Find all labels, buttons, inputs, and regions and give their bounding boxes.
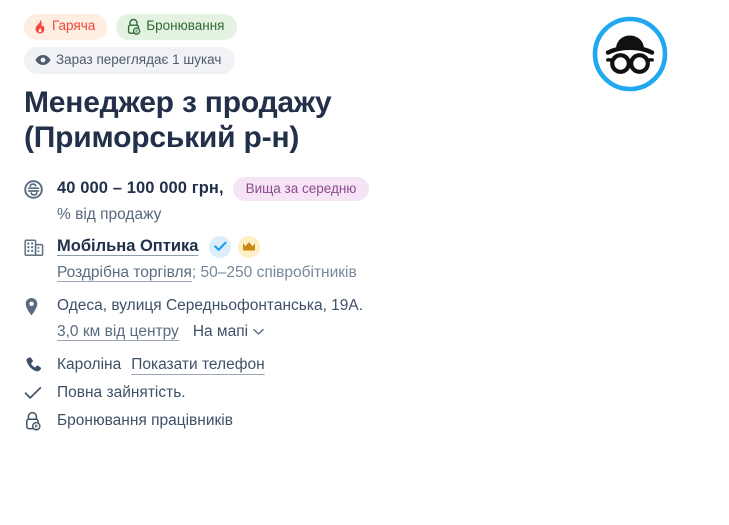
page-title: Менеджер з продажу (Приморський р-н)	[24, 86, 494, 156]
hryvnia-coin-icon	[24, 176, 50, 202]
reservation-row: ₴ Бронювання працівників	[24, 408, 709, 434]
reservation-body: Бронювання працівників	[57, 408, 709, 434]
show-phone-button[interactable]: Показати телефон	[131, 356, 264, 374]
company-industry-line: Роздрібна торгівля ; 50–250 співробітник…	[57, 260, 709, 286]
badge-booking[interactable]: ₴ Бронювання	[116, 14, 236, 40]
contact-row: Кароліна Показати телефон	[24, 352, 709, 378]
check-icon	[24, 380, 50, 406]
reservation-text: Бронювання працівників	[57, 412, 233, 430]
show-on-map-label: На мапі	[193, 323, 248, 341]
eye-icon	[35, 54, 51, 66]
distance-from-center-link[interactable]: 3,0 км від центру	[57, 323, 179, 341]
salary-line: 40 000 – 100 000 грн, Вища за середню	[57, 176, 709, 202]
fire-icon	[33, 19, 47, 35]
contact-line: Кароліна Показати телефон	[57, 352, 709, 378]
check-verified-icon	[209, 236, 231, 258]
lock-booking-icon: ₴	[24, 408, 50, 434]
contact-body: Кароліна Показати телефон	[57, 352, 709, 378]
map-pin-icon	[24, 293, 50, 319]
building-icon	[24, 234, 50, 260]
reservation-line: Бронювання працівників	[57, 408, 709, 434]
company-row: Мобільна Оптика Роздрібна торгівля ;	[24, 234, 709, 291]
company-name-link[interactable]: Мобільна Оптика	[57, 237, 198, 256]
badge-booking-label: Бронювання	[146, 18, 224, 34]
phone-icon	[24, 352, 50, 378]
contact-person-name: Кароліна	[57, 356, 121, 374]
salary-note: % від продажу	[57, 206, 709, 224]
company-body: Мобільна Оптика Роздрібна торгівля ;	[57, 234, 709, 291]
employment-type-text: Повна зайнятість.	[57, 384, 186, 402]
badge-viewers: Зараз переглядає 1 шукач	[24, 47, 235, 74]
industry-link[interactable]: Роздрібна торгівля	[57, 264, 192, 282]
chevron-down-icon	[253, 328, 264, 336]
distance-line: 3,0 км від центру На мапі	[57, 319, 709, 345]
vacancy-page: Гаряча ₴ Бронювання Зараз перег	[0, 0, 729, 525]
incognito-hat-glasses-logo	[590, 14, 670, 94]
employment-body: Повна зайнятість.	[57, 380, 709, 406]
employment-line: Повна зайнятість.	[57, 380, 709, 406]
address-text: Одеса, вулиця Середньофонтанська, 19А.	[57, 297, 363, 315]
badge-hot-label: Гаряча	[52, 18, 95, 34]
show-on-map-button[interactable]: На мапі	[193, 323, 264, 341]
company-size-text: ; 50–250 співробітників	[192, 264, 357, 282]
vacancy-details-list: 40 000 – 100 000 грн, Вища за середню % …	[24, 176, 709, 434]
address-line: Одеса, вулиця Середньофонтанська, 19А.	[57, 293, 709, 319]
company-name-line: Мобільна Оптика	[57, 234, 709, 260]
salary-level-pill: Вища за середню	[233, 177, 370, 201]
location-body: Одеса, вулиця Середньофонтанська, 19А. 3…	[57, 293, 709, 350]
badge-viewers-label: Зараз переглядає 1 шукач	[56, 52, 221, 68]
location-row: Одеса, вулиця Середньофонтанська, 19А. 3…	[24, 293, 709, 350]
lock-booking-icon: ₴	[126, 18, 141, 35]
badge-hot[interactable]: Гаряча	[24, 14, 107, 39]
employment-row: Повна зайнятість.	[24, 380, 709, 406]
svg-text:₴: ₴	[35, 425, 38, 431]
salary-row: 40 000 – 100 000 грн, Вища за середню % …	[24, 176, 709, 232]
salary-body: 40 000 – 100 000 грн, Вища за середню % …	[57, 176, 709, 232]
crown-icon	[238, 236, 260, 258]
salary-amount: 40 000 – 100 000 грн,	[57, 179, 224, 198]
